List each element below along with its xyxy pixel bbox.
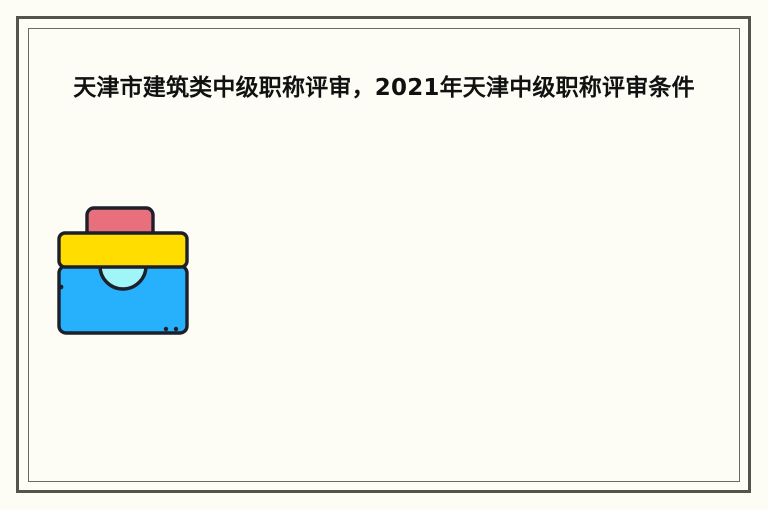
- page-title: 天津市建筑类中级职称评审，2021年天津中级职称评审条件: [52, 72, 716, 105]
- accent-dot-bottom-b: [174, 327, 178, 331]
- briefcase-lid-shape: [59, 233, 187, 267]
- accent-dot-bottom-a: [164, 327, 168, 331]
- accent-dot-left: [59, 285, 64, 290]
- page-root: 天津市建筑类中级职称评审，2021年天津中级职称评审条件: [0, 0, 768, 510]
- briefcase-box-illustration: [52, 200, 194, 342]
- page-title-container: 天津市建筑类中级职称评审，2021年天津中级职称评审条件: [52, 72, 716, 105]
- briefcase-icon: [52, 200, 194, 342]
